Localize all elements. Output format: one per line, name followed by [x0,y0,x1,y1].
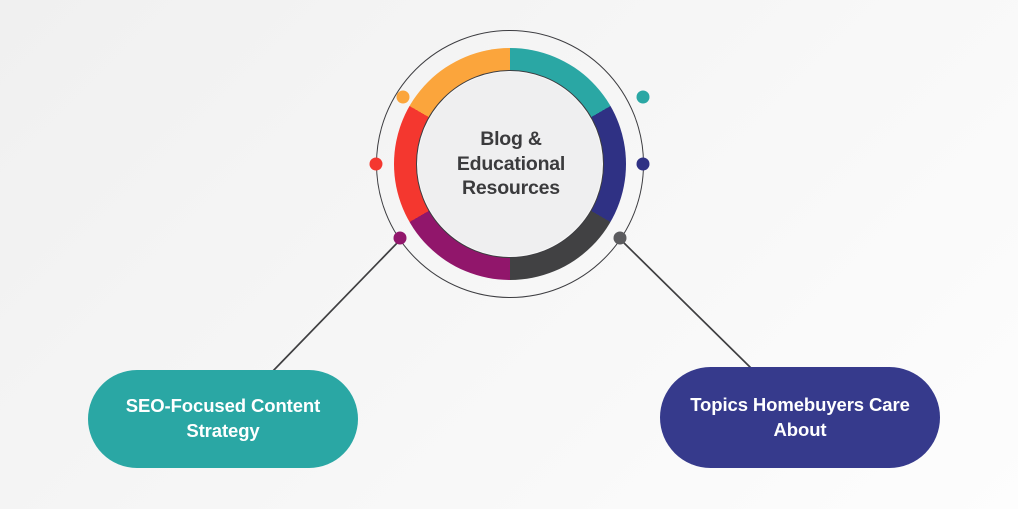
marker-teal[interactable] [637,91,650,104]
diagram-canvas: Blog & Educational Resources SEO-Focused… [0,0,1018,509]
hub-inner-disc: Blog & Educational Resources [416,70,604,258]
marker-navy[interactable] [637,158,650,171]
hub-donut-wrap: Blog & Educational Resources [394,48,626,280]
hub-label: Blog & Educational Resources [431,127,591,201]
marker-red[interactable] [370,158,383,171]
central-hub[interactable]: Blog & Educational Resources [376,30,644,298]
marker-gray[interactable] [614,232,627,245]
marker-purple[interactable] [394,232,407,245]
node-seo-focused-content-strategy[interactable]: SEO-Focused Content Strategy [88,370,358,468]
marker-orange[interactable] [397,91,410,104]
node-left-label: SEO-Focused Content Strategy [110,394,336,444]
node-right-label: Topics Homebuyers Care About [682,393,918,443]
node-topics-homebuyers-care-about[interactable]: Topics Homebuyers Care About [660,367,940,468]
